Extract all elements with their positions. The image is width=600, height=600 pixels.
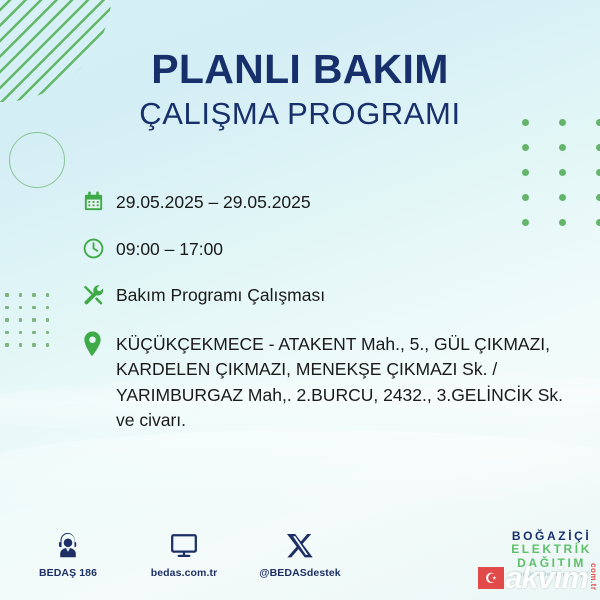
planned-maintenance-poster: PLANLI BAKIM ÇALIŞMA PROGRAMI 29.05.2025… — [0, 0, 600, 600]
brand-line-2: ELEKTRİK — [511, 543, 592, 556]
detail-row-work-type: Bakım Programı Çalışması — [82, 283, 582, 313]
tools-icon — [82, 283, 116, 313]
contact-website[interactable]: bedas.com.tr — [138, 528, 230, 579]
detail-row-time: 09:00 – 17:00 — [82, 237, 582, 267]
maintenance-time: 09:00 – 17:00 — [116, 237, 223, 261]
page-title: PLANLI BAKIM — [0, 48, 600, 91]
contact-website-label: bedas.com.tr — [138, 567, 230, 579]
poster-footer: BEDAŞ 186 bedas.com.tr @BEDASdestek — [0, 514, 600, 594]
takvim-watermark: ☪ akvim com.tr — [478, 563, 598, 592]
turkish-flag-icon: ☪ — [478, 567, 504, 589]
detail-row-date: 29.05.2025 – 29.05.2025 — [82, 190, 582, 220]
contact-x-social[interactable]: @BEDASdestek — [254, 528, 346, 579]
poster-heading: PLANLI BAKIM ÇALIŞMA PROGRAMI — [0, 48, 600, 131]
call-center-agent-icon — [22, 528, 114, 562]
circle-outline-decoration — [9, 132, 65, 188]
calendar-icon — [82, 190, 116, 220]
dot-grid-left-decoration — [5, 293, 49, 356]
monitor-icon — [138, 528, 230, 562]
detail-row-address: KÜÇÜKÇEKMECE - ATAKENT Mah., 5., GÜL ÇIK… — [82, 331, 582, 434]
x-twitter-icon — [254, 528, 346, 562]
maintenance-work-type: Bakım Programı Çalışması — [116, 283, 325, 307]
maintenance-details: 29.05.2025 – 29.05.2025 09:00 – 17:00 Ba… — [82, 190, 582, 450]
maintenance-date: 29.05.2025 – 29.05.2025 — [116, 190, 311, 214]
page-subtitle: ÇALIŞMA PROGRAMI — [0, 97, 600, 131]
contact-phone[interactable]: BEDAŞ 186 — [22, 528, 114, 579]
clock-icon — [82, 237, 116, 267]
watermark-tld: com.tr — [589, 563, 598, 590]
contact-channels: BEDAŞ 186 bedas.com.tr @BEDASdestek — [22, 528, 346, 579]
location-pin-icon — [82, 331, 116, 361]
contact-phone-label: BEDAŞ 186 — [22, 567, 114, 579]
contact-x-label: @BEDASdestek — [254, 567, 346, 579]
maintenance-address: KÜÇÜKÇEKMECE - ATAKENT Mah., 5., GÜL ÇIK… — [116, 331, 582, 434]
watermark-text: akvim — [505, 563, 588, 592]
